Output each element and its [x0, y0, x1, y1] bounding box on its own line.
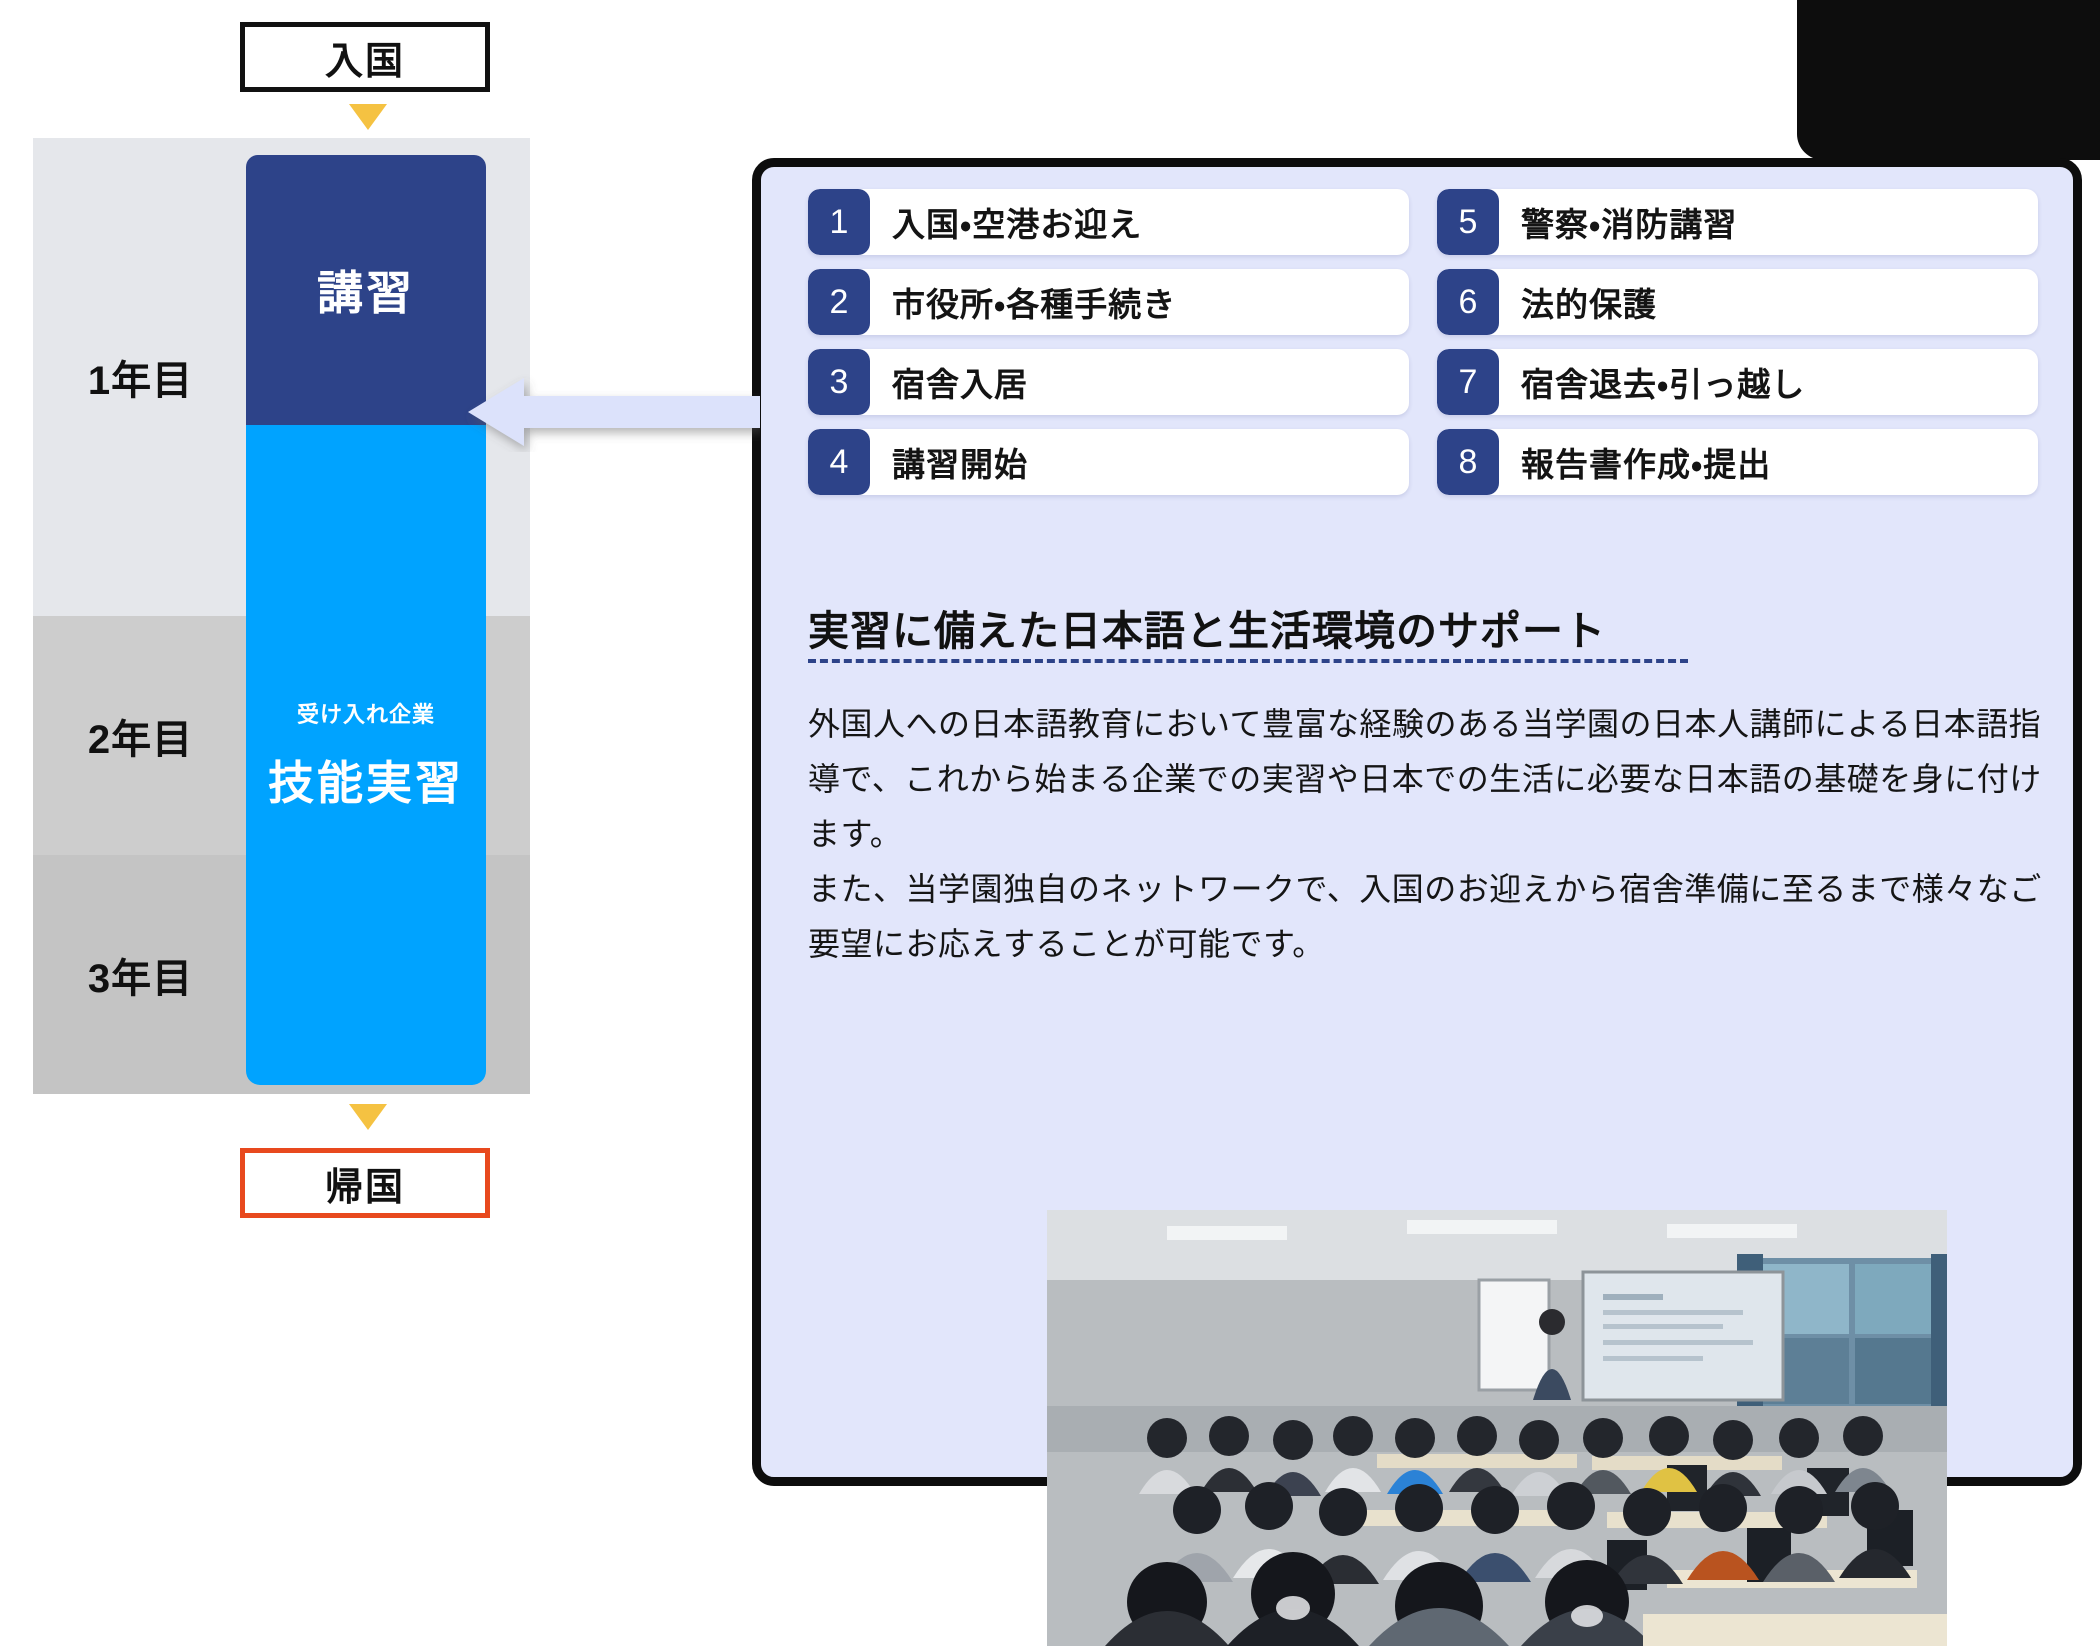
step-label: 入国・空港お迎え	[870, 189, 1409, 255]
pointer-arrow-icon	[460, 372, 760, 452]
year-label-3: 3年目	[33, 946, 248, 1004]
stage-training-label: 講習	[317, 257, 415, 323]
step-label: 講習開始	[870, 429, 1409, 495]
stage-internship-sublabel: 受け入れ企業	[297, 697, 435, 729]
section-paragraph-2: また、当学園独自のネットワークで、入国のお迎えから宿舎準備に至るまで様々なご要望…	[808, 862, 2053, 972]
exit-label: 帰国	[325, 1156, 405, 1211]
step-number-badge: 7	[1437, 349, 1499, 415]
step-label: 警察・消防講習	[1499, 189, 2038, 255]
step-item[interactable]: 4 講習開始	[808, 429, 1409, 495]
entry-box: 入国	[240, 22, 490, 92]
step-number-badge: 5	[1437, 189, 1499, 255]
stage-bar-training: 講習	[246, 155, 486, 425]
stage-internship-label: 技能実習	[268, 747, 464, 813]
step-number-badge: 6	[1437, 269, 1499, 335]
step-item[interactable]: 3 宿舎入居	[808, 349, 1409, 415]
step-number-badge: 4	[808, 429, 870, 495]
step-item[interactable]: 6 法的保護	[1437, 269, 2038, 335]
step-number-badge: 3	[808, 349, 870, 415]
step-label: 報告書作成・提出	[1499, 429, 2038, 495]
year-label-2: 2年目	[33, 707, 248, 765]
step-item[interactable]: 1 入国・空港お迎え	[808, 189, 1409, 255]
arrow-down-icon-entry	[349, 104, 387, 130]
top-right-corner-block	[1797, 0, 2100, 160]
step-label: 宿舎入居	[870, 349, 1409, 415]
step-number-badge: 8	[1437, 429, 1499, 495]
stage-bar-internship: 受け入れ企業 技能実習	[246, 425, 486, 1085]
section-heading: 実習に備えた日本語と生活環境のサポート	[808, 597, 2038, 657]
step-item[interactable]: 8 報告書作成・提出	[1437, 429, 2038, 495]
section-body: 外国人への日本語教育において豊富な経験のある当学園の日本人講師による日本語指導で…	[808, 697, 2053, 972]
entry-label: 入国	[325, 30, 405, 85]
classroom-photo	[1047, 1210, 1947, 1646]
dashed-divider	[808, 659, 1688, 663]
step-item[interactable]: 7 宿舎退去・引っ越し	[1437, 349, 2038, 415]
exit-box: 帰国	[240, 1148, 490, 1218]
step-item[interactable]: 5 警察・消防講習	[1437, 189, 2038, 255]
step-item[interactable]: 2 市役所・各種手続き	[808, 269, 1409, 335]
step-label: 法的保護	[1499, 269, 2038, 335]
step-number-badge: 2	[808, 269, 870, 335]
year-label-1: 1年目	[33, 348, 248, 406]
step-label: 宿舎退去・引っ越し	[1499, 349, 2038, 415]
section-paragraph-1: 外国人への日本語教育において豊富な経験のある当学園の日本人講師による日本語指導で…	[808, 697, 2053, 862]
steps-grid: 1 入国・空港お迎え 5 警察・消防講習 2 市役所・各種手続き 6 法的保護 …	[808, 189, 2038, 495]
step-number-badge: 1	[808, 189, 870, 255]
arrow-down-icon-exit	[349, 1104, 387, 1130]
step-label: 市役所・各種手続き	[870, 269, 1409, 335]
